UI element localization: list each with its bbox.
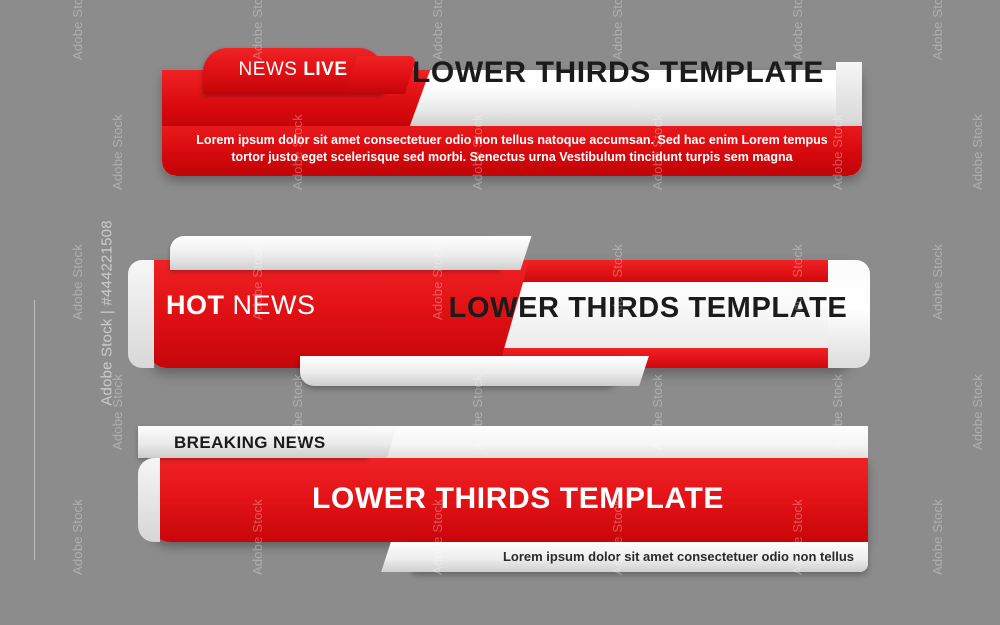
banner-hot-bottom-white-bar [300,356,620,386]
banner-breaking-white-top [368,426,868,458]
banner-hot-title: LOWER THIRDS TEMPLATE [448,292,848,325]
lower-third-banner-hot: HOT NEWS LOWER THIRDS TEMPLATE [128,232,872,392]
banner-live-tag-text: NEWS LIVE [203,59,383,81]
banner-hot-tag-thin: NEWS [233,290,316,320]
banner-breaking-subtitle: Lorem ipsum dolor sit amet consectetuer … [410,549,854,564]
banner-breaking-left-cap [138,458,160,542]
banner-hot-tag-bold: HOT [166,290,225,320]
banner-stage: Lorem ipsum dolor sit amet consectetuer … [0,0,1000,625]
banner-breaking-bottom-bar: Lorem ipsum dolor sit amet consectetuer … [410,542,868,572]
banner-hot-left-cap [128,260,154,368]
banner-hot-tag-text: HOT NEWS [166,290,466,321]
banner-breaking-tag-text: BREAKING NEWS [174,433,326,453]
banner-breaking-title: LOWER THIRDS TEMPLATE [198,482,838,516]
banner-live-right-sliver [836,62,862,122]
banner-live-title: LOWER THIRDS TEMPLATE [398,56,838,90]
lower-third-banner-breaking: BREAKING NEWS LOWER THIRDS TEMPLATE Lore… [138,420,878,568]
banner-live-subtitle: Lorem ipsum dolor sit amet consectetuer … [178,132,846,166]
banner-live-tag-thin: NEWS [238,59,297,80]
banner-hot-top-white-bar [170,236,500,270]
lower-third-banner-live: Lorem ipsum dolor sit amet consectetuer … [148,48,870,180]
banner-live-tag-pill: NEWS LIVE [203,48,383,94]
banner-live-tag-bold: LIVE [303,59,347,80]
